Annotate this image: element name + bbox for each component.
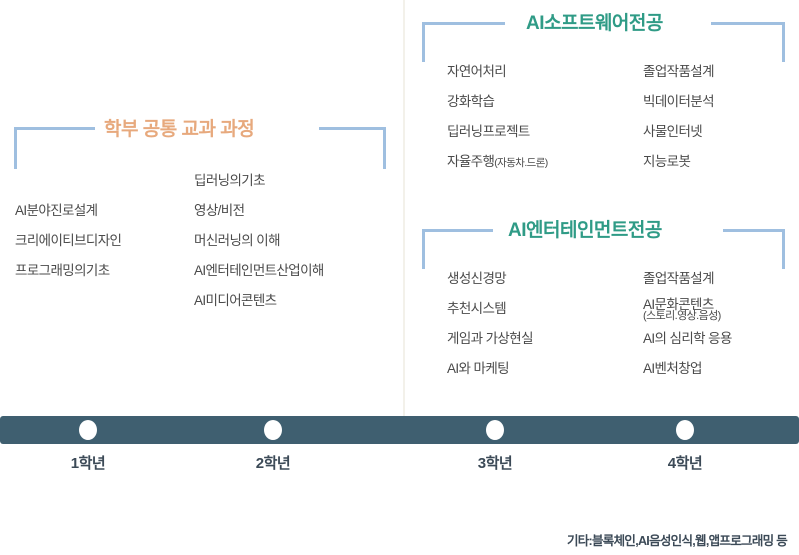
course-item: 졸업작품설계 bbox=[643, 264, 732, 294]
year-label-4: 4학년 bbox=[668, 452, 702, 473]
year-label-1: 1학년 bbox=[71, 452, 105, 473]
timeline-node-year1[interactable] bbox=[77, 418, 99, 442]
course-item: 강화학습 bbox=[447, 87, 548, 117]
course-item: AI와 마케팅 bbox=[447, 354, 533, 384]
course-item: 딥러닝의기초 bbox=[194, 166, 324, 196]
course-item: 지능로봇 bbox=[643, 147, 714, 177]
course-item: AI의 심리학 응용 bbox=[643, 324, 732, 354]
course-item: 크리에이티브디자인 bbox=[15, 226, 121, 256]
course-item: AI문화콘텐츠 (스토리.영상.음성) bbox=[643, 294, 732, 324]
course-item: 졸업작품설계 bbox=[643, 57, 714, 87]
timeline-node-year4[interactable] bbox=[674, 418, 696, 442]
course-item: AI엔터테인먼트산업이해 bbox=[194, 256, 324, 286]
course-item: 추천시스템 bbox=[447, 294, 533, 324]
timeline-node-year2[interactable] bbox=[262, 418, 284, 442]
course-item: AI벤처창업 bbox=[643, 354, 732, 384]
course-item: AI미디어콘텐츠 bbox=[194, 286, 324, 316]
course-subtitle: (스토리.영상.음성) bbox=[643, 309, 732, 324]
year-label-3: 3학년 bbox=[478, 452, 512, 473]
year1-course-list: AI분야진로설계 크리에이티브디자인 프로그래밍의기초 bbox=[15, 196, 121, 286]
timeline-node-year3[interactable] bbox=[484, 418, 506, 442]
course-item: 머신러닝의 이해 bbox=[194, 226, 324, 256]
course-name: 자율주행 bbox=[447, 154, 494, 169]
course-item: 자율주행(자동차.드론) bbox=[447, 147, 548, 178]
course-item: 사물인터넷 bbox=[643, 117, 714, 147]
course-item: 딥러닝프로젝트 bbox=[447, 117, 548, 147]
ai-software-year4-course-list: 졸업작품설계 빅데이터분석 사물인터넷 지능로봇 bbox=[643, 57, 714, 177]
ai-software-year3-course-list: 자연어처리 강화학습 딥러닝프로젝트 자율주행(자동차.드론) bbox=[447, 57, 548, 178]
course-name-paren: (자동차.드론) bbox=[494, 157, 547, 169]
course-item: 게임과 가상현실 bbox=[447, 324, 533, 354]
section-divider bbox=[403, 0, 405, 420]
course-item: 프로그래밍의기초 bbox=[15, 256, 121, 286]
course-item: 생성신경망 bbox=[447, 264, 533, 294]
course-item: 자연어처리 bbox=[447, 57, 548, 87]
ai-entertainment-year3-course-list: 생성신경망 추천시스템 게임과 가상현실 AI와 마케팅 bbox=[447, 264, 533, 384]
footnote: 기타:블록체인,AI음성인식,웹,앱프로그래밍 등 bbox=[567, 530, 787, 549]
year-label-2: 2학년 bbox=[256, 452, 290, 473]
ai-entertainment-year4-course-list: 졸업작품설계 AI문화콘텐츠 (스토리.영상.음성) AI의 심리학 응용 AI… bbox=[643, 264, 732, 384]
ai-entertainment-title: AI엔터테인먼트전공 bbox=[500, 215, 670, 242]
ai-software-title: AI소프트웨어전공 bbox=[518, 8, 671, 35]
course-item: 영상/비전 bbox=[194, 196, 324, 226]
course-item: AI분야진로설계 bbox=[15, 196, 121, 226]
year2-course-list: 딥러닝의기초 영상/비전 머신러닝의 이해 AI엔터테인먼트산업이해 AI미디어… bbox=[194, 166, 324, 316]
common-curriculum-title: 학부 공통 교과 과정 bbox=[96, 114, 262, 141]
course-item: 빅데이터분석 bbox=[643, 87, 714, 117]
